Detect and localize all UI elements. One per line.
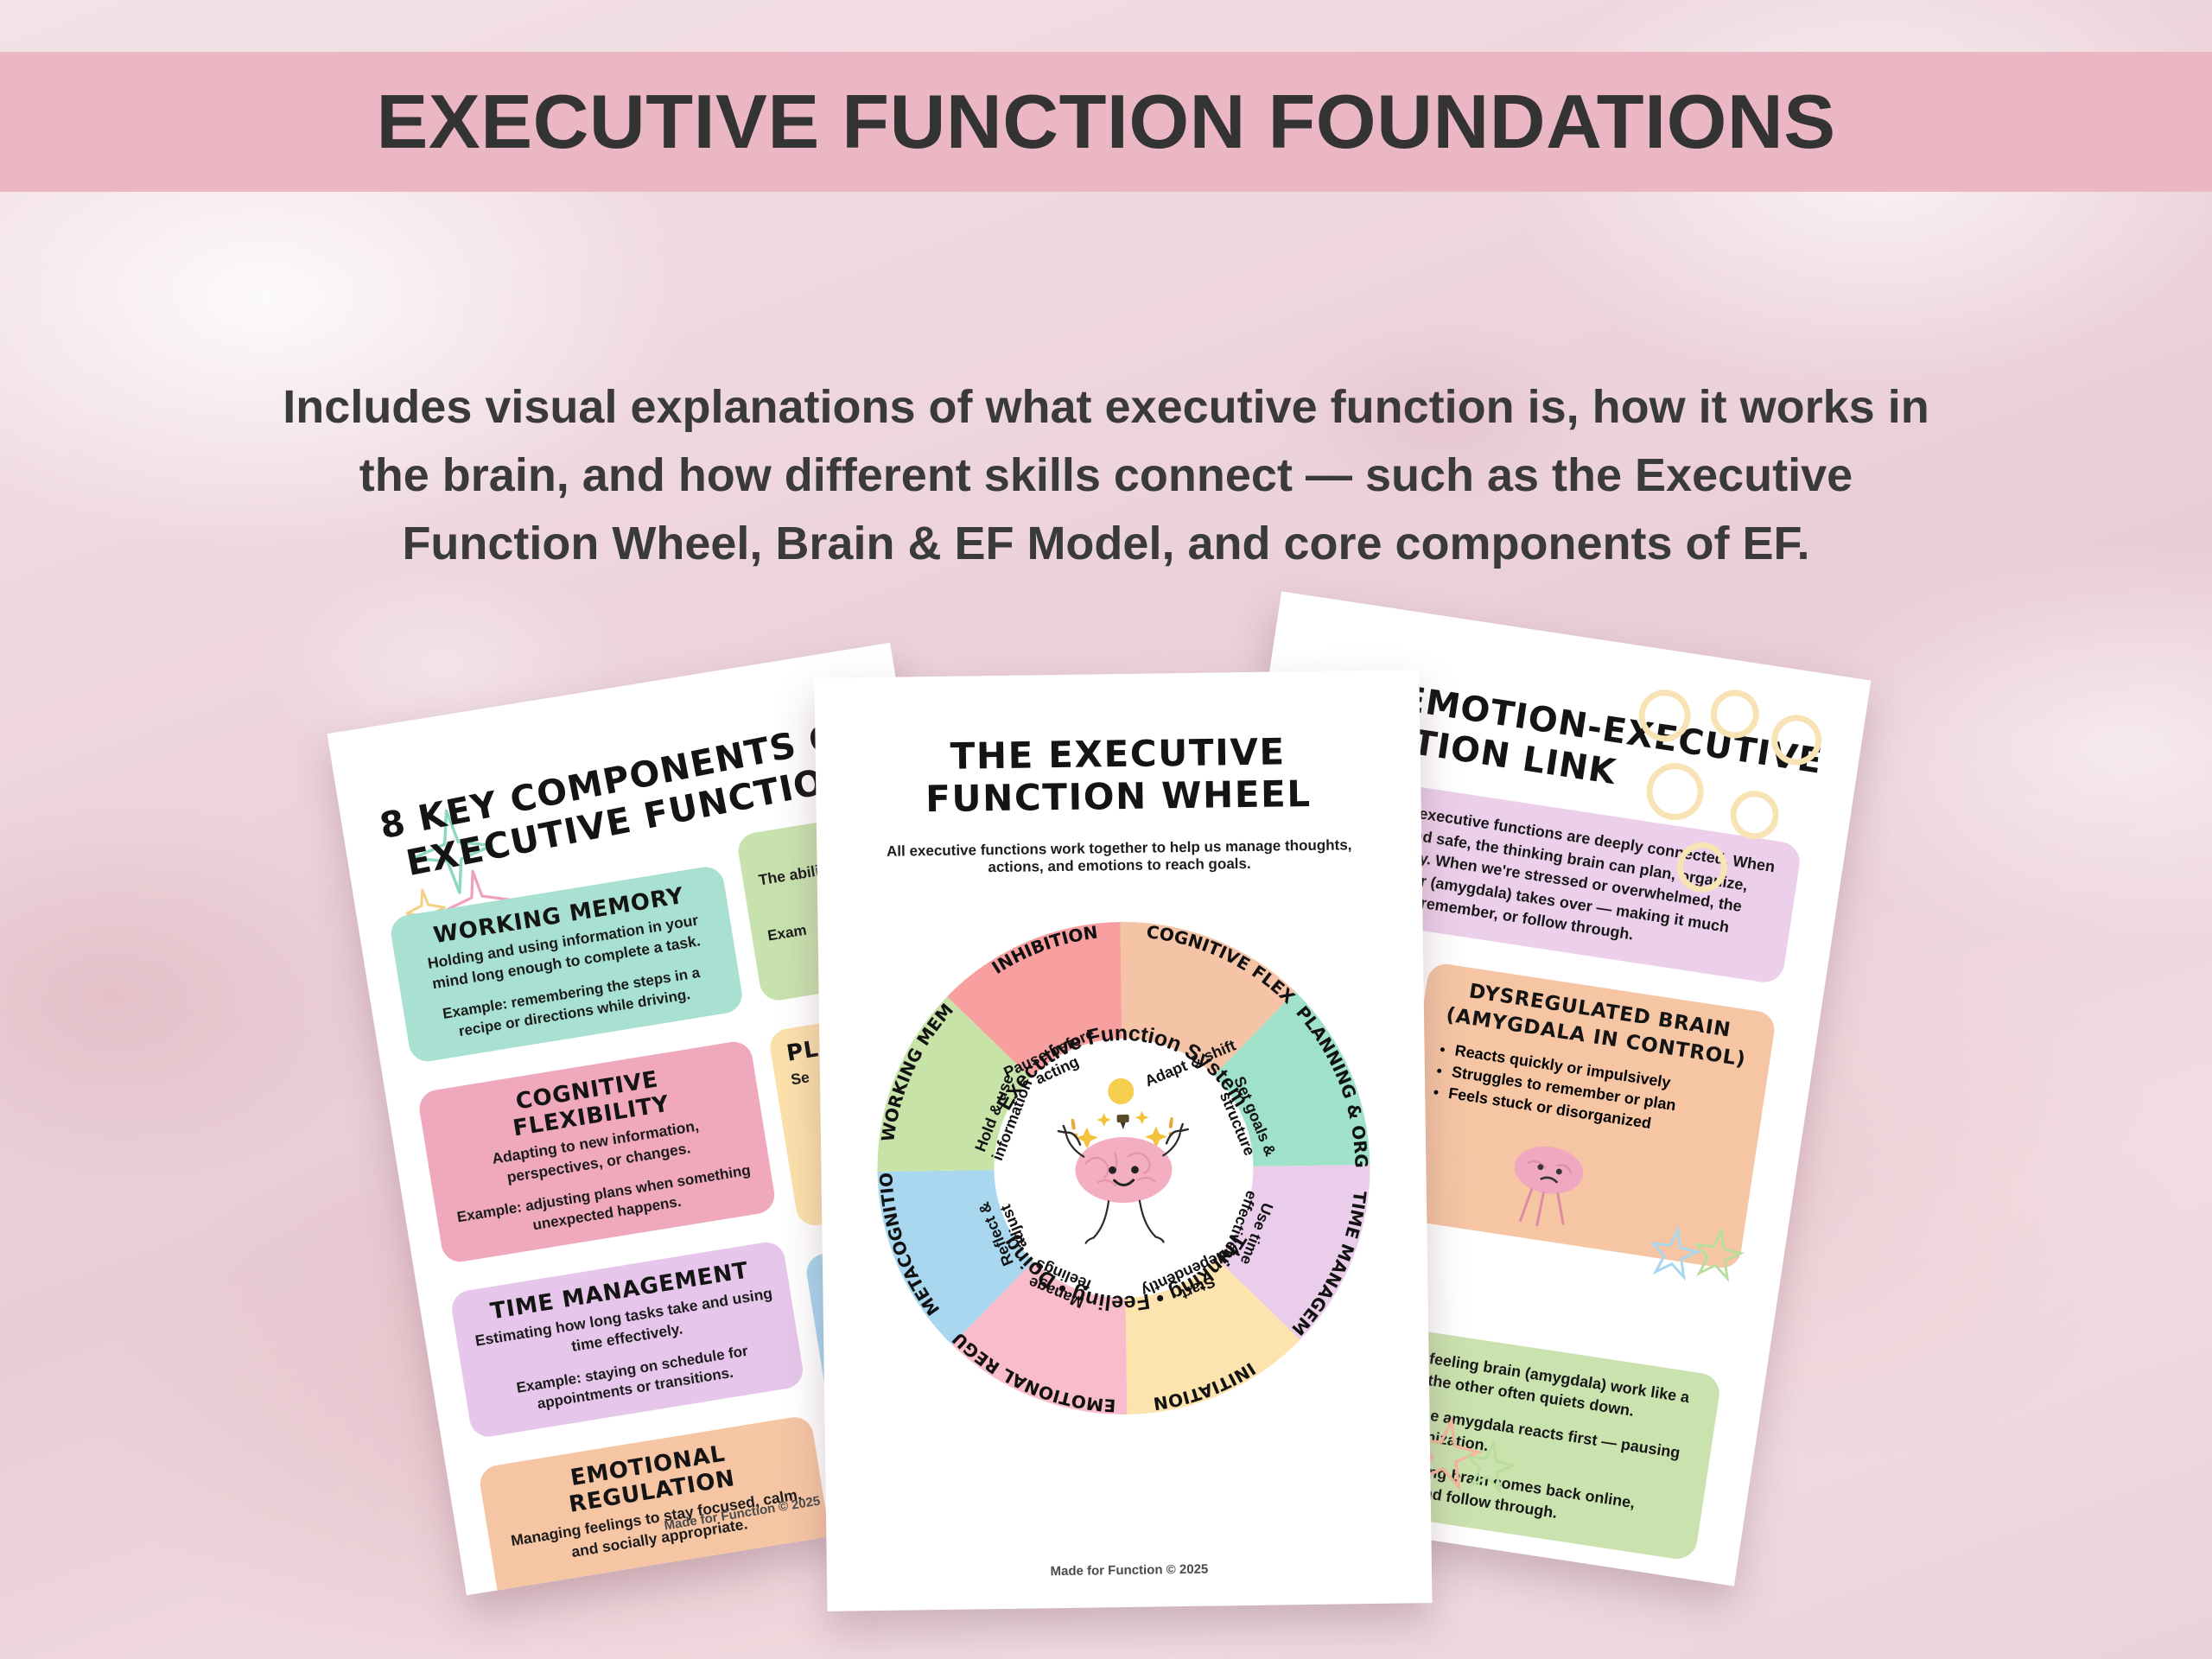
subtitle-line-1: Includes visual explanations of what exe… — [147, 373, 2065, 442]
dysregulated-brain-card[interactable]: DYSREGULATED BRAIN (AMYGDALA IN CONTROL)… — [1391, 962, 1777, 1270]
subtitle-line-3: Function Wheel, Brain & EF Model, and co… — [147, 510, 2065, 578]
title-banner: EXECUTIVE FUNCTION FOUNDATIONS — [0, 52, 2212, 192]
subtitle-line-2: the brain, and how different skills conn… — [147, 442, 2065, 510]
sad-brain-mascot-icon — [1488, 1124, 1606, 1243]
subtitle-block: Includes visual explanations of what exe… — [147, 373, 2065, 577]
center-sheet-heading: THE EXECUTIVE FUNCTION WHEEL — [849, 729, 1386, 822]
worksheet-ef-wheel[interactable]: THE EXECUTIVE FUNCTION WHEEL All executi… — [814, 670, 1432, 1611]
ef-card[interactable]: COGNITIVE FLEXIBILITY Adapting to new in… — [416, 1039, 777, 1265]
worksheet-stack: 8 KEY COMPONENTS OF EXECUTIVE FUNCTION W… — [0, 657, 2212, 1659]
center-sheet-footer: Made for Function © 2025 — [827, 1559, 1432, 1582]
page-title: EXECUTIVE FUNCTION FOUNDATIONS — [376, 78, 1835, 166]
executive-function-wheel[interactable]: COGNITIVE FLEXIBILITY PLANNING & ORGANIZ… — [852, 897, 1395, 1440]
center-sheet-subtitle: All executive functions work together to… — [873, 836, 1366, 878]
star-doodle-icon — [1646, 1217, 1750, 1294]
ef-card[interactable]: TIME MANAGEMENT Estimating how long task… — [449, 1240, 805, 1440]
wheel-svg: COGNITIVE FLEXIBILITY PLANNING & ORGANIZ… — [852, 897, 1395, 1440]
